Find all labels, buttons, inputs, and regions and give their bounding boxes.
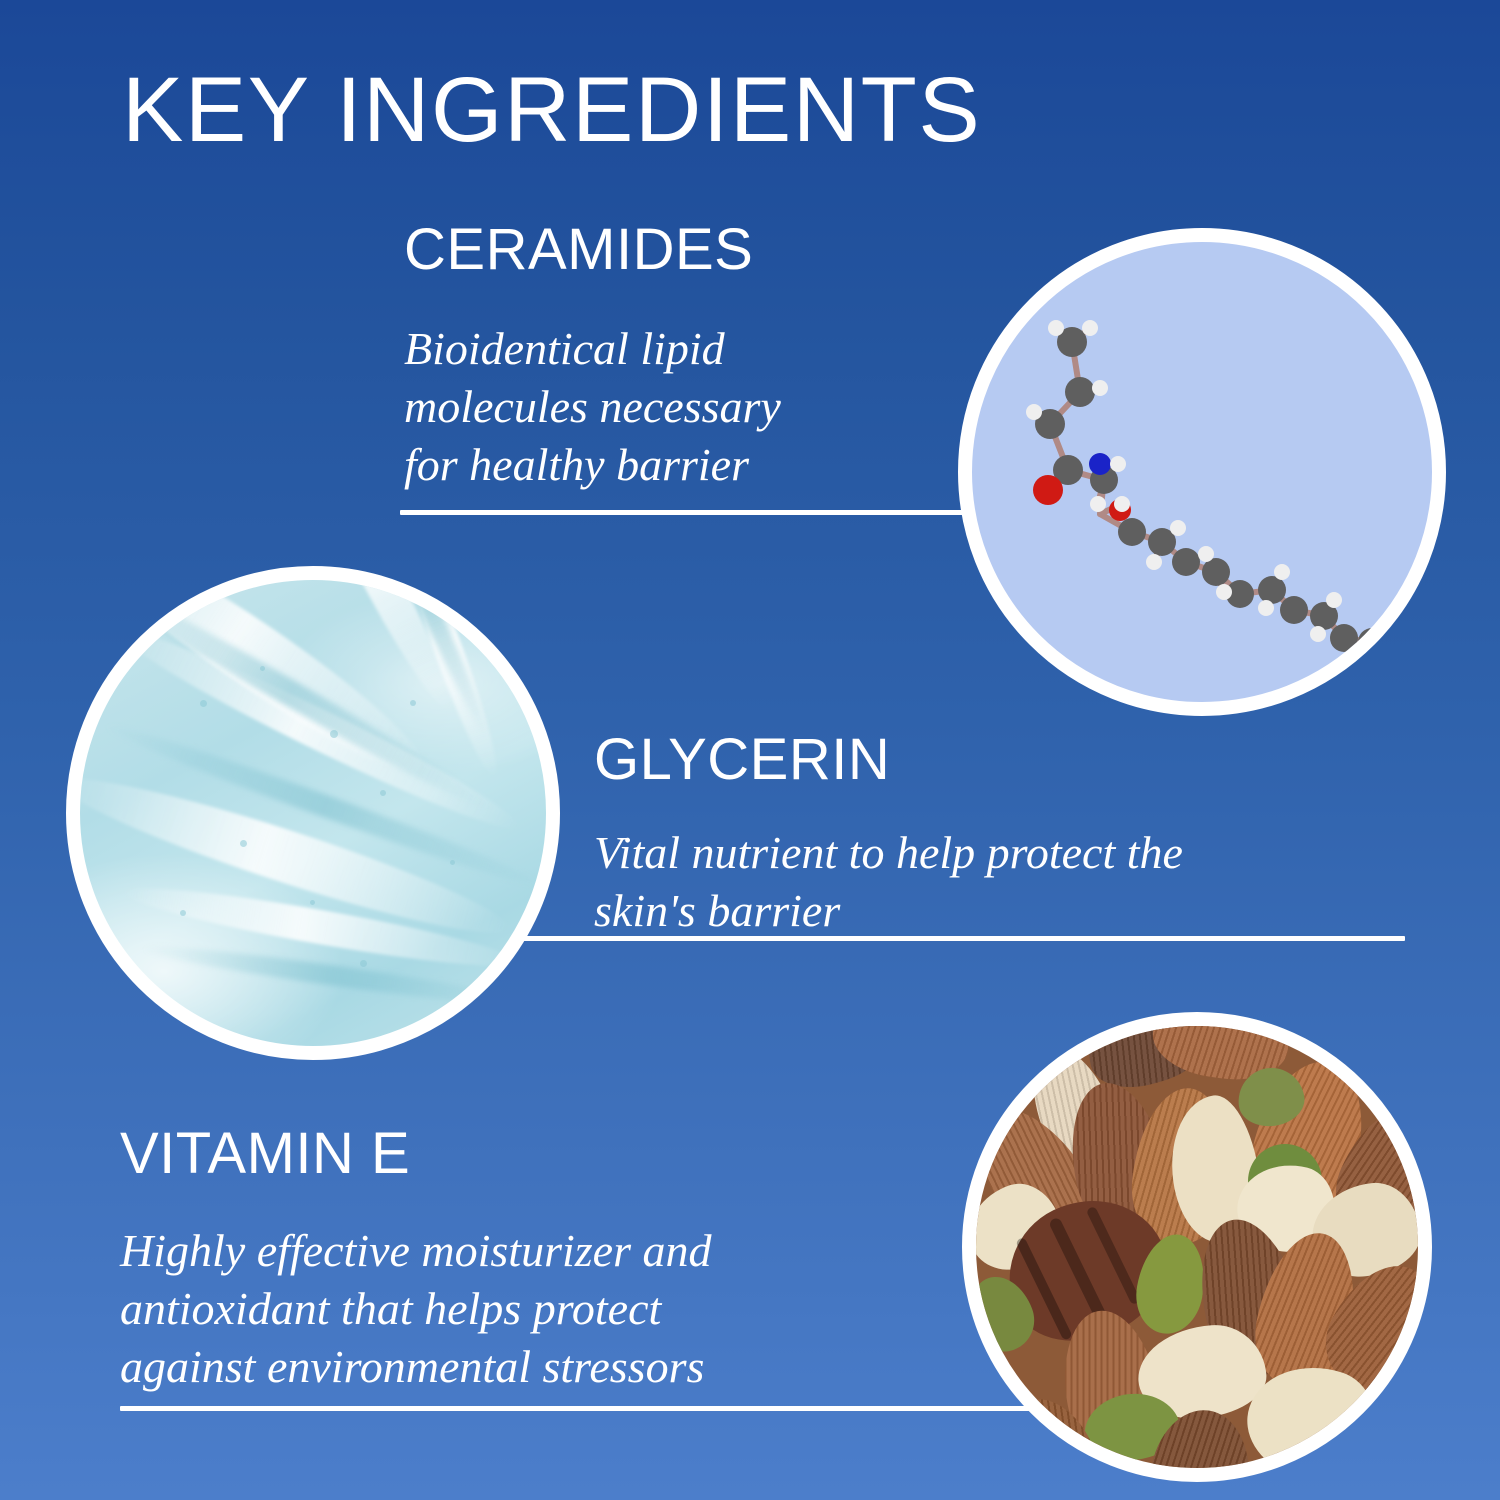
ingredient-heading-glycerin: GLYCERIN xyxy=(594,728,890,792)
ingredient-description-vitamin-e: Highly effective moisturizer and antioxi… xyxy=(120,1222,910,1396)
key-ingredients-poster: KEY INGREDIENTS CERAMIDES Bioidentical l… xyxy=(0,0,1500,1500)
connector-line-vitamin-e xyxy=(120,1406,1095,1411)
ceramide-molecule-icon xyxy=(972,242,1432,702)
page-title: KEY INGREDIENTS xyxy=(122,62,981,159)
media-circle-vitamin-e xyxy=(962,1012,1432,1482)
media-circle-ceramides xyxy=(958,228,1446,716)
ingredient-description-glycerin: Vital nutrient to help protect the skin'… xyxy=(594,824,1354,940)
media-circle-glycerin xyxy=(66,566,560,1060)
ingredient-description-ceramides: Bioidentical lipid molecules necessary f… xyxy=(404,320,924,494)
ingredient-heading-ceramides: CERAMIDES xyxy=(404,218,753,282)
ingredient-heading-vitamin-e: VITAMIN E xyxy=(120,1122,410,1186)
